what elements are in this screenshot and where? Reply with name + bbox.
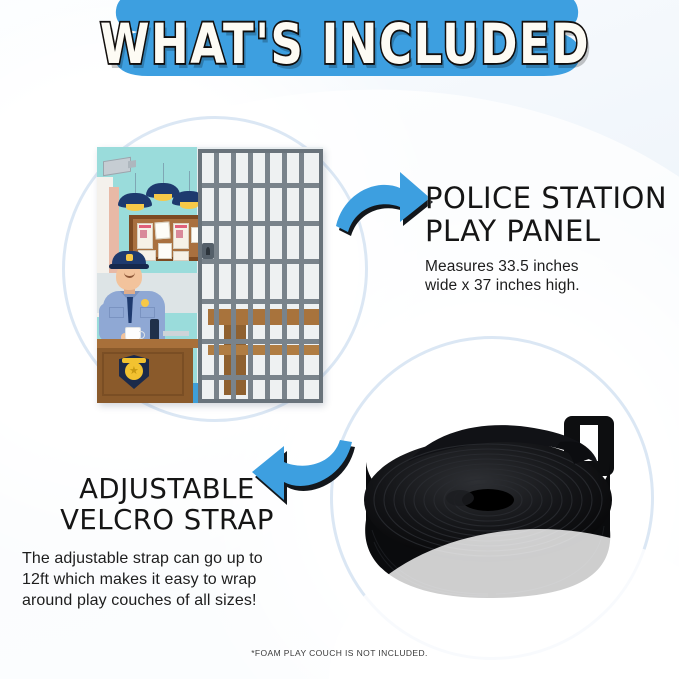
velcro-strap-subtext-line3: around play couches of all sizes! xyxy=(22,590,312,611)
police-badge-icon: ★ xyxy=(119,355,149,389)
curved-arrow-right-icon xyxy=(330,162,434,236)
banner-title: WHAT'S INCLUDED xyxy=(86,0,604,119)
header-banner: WHAT'S INCLUDED xyxy=(86,0,604,104)
play-panel-heading-line1: POLICE STATION xyxy=(425,182,679,215)
desk-top xyxy=(97,339,198,348)
jail-lock-icon xyxy=(202,243,214,259)
footer-disclaimer: *FOAM PLAY COUCH IS NOT INCLUDED. xyxy=(0,648,679,658)
jail-cell-door xyxy=(198,149,323,403)
velcro-strap-subtext: The adjustable strap can go up to 12ft w… xyxy=(22,548,312,611)
velcro-strap-subtext-line2: 12ft which makes it easy to wrap xyxy=(22,569,312,590)
infographic-page: WHAT'S INCLUDED xyxy=(0,0,679,679)
play-panel-text-block: POLICE STATION PLAY PANEL Measures 33.5 … xyxy=(425,182,679,295)
velcro-strap-text-block: ADJUSTABLE VELCRO STRAP The adjustable s… xyxy=(22,474,312,611)
desk-keyboard xyxy=(163,331,189,336)
play-panel-subtext: Measures 33.5 inches wide x 37 inches hi… xyxy=(425,257,679,295)
play-panel-subtext-line1: Measures 33.5 inches xyxy=(425,257,679,276)
police-station-play-panel-photo: ★ xyxy=(97,147,323,403)
velcro-strap-subtext-line1: The adjustable strap can go up to xyxy=(22,548,312,569)
play-panel-subtext-line2: wide x 37 inches high. xyxy=(425,276,679,295)
play-panel-heading-line2: PLAY PANEL xyxy=(425,215,679,248)
velcro-strap-heading-line1: ADJUSTABLE xyxy=(22,474,312,505)
radio-device xyxy=(150,319,159,341)
velcro-strap-heading-line2: VELCRO STRAP xyxy=(22,505,312,536)
